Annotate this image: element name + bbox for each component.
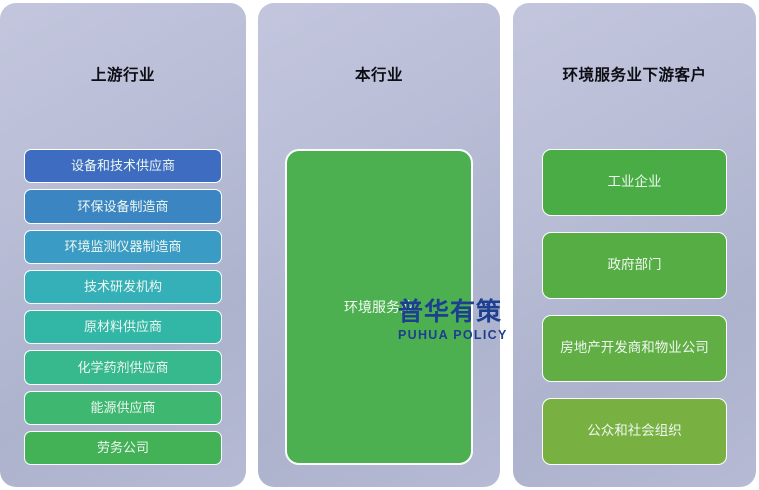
downstream-item-0-label: 工业企业 [608,174,662,190]
upstream-item-2-label: 环境监测仪器制造商 [64,239,181,255]
upstream-item-0-label: 设备和技术供应商 [71,158,175,174]
panel-upstream-title: 上游行业 [0,63,246,85]
upstream-item-3-label: 技术研发机构 [84,279,162,295]
panel-upstream: 上游行业 设备和技术供应商 环保设备制造商 环境监测仪器制造商 技术研发机构 原… [0,3,246,487]
industry-block-label: 环境服务业 [344,297,414,317]
upstream-item-3[interactable]: 技术研发机构 [24,270,222,304]
upstream-item-7-label: 劳务公司 [97,440,149,456]
panel-downstream: 环境服务业下游客户 工业企业 政府部门 房地产开发商和物业公司 公众和社会组织 [513,3,756,487]
upstream-item-5-label: 化学药剂供应商 [77,360,168,376]
downstream-item-3[interactable]: 公众和社会组织 [542,398,727,465]
upstream-item-7[interactable]: 劳务公司 [24,431,222,465]
downstream-item-1[interactable]: 政府部门 [542,232,727,299]
upstream-item-2[interactable]: 环境监测仪器制造商 [24,230,222,264]
upstream-item-1-label: 环保设备制造商 [77,199,168,215]
upstream-item-5[interactable]: 化学药剂供应商 [24,350,222,384]
panel-industry: 本行业 环境服务业 [258,3,500,487]
upstream-item-list: 设备和技术供应商 环保设备制造商 环境监测仪器制造商 技术研发机构 原材料供应商… [24,149,222,465]
downstream-item-list: 工业企业 政府部门 房地产开发商和物业公司 公众和社会组织 [542,149,727,465]
upstream-item-6[interactable]: 能源供应商 [24,391,222,425]
downstream-item-2[interactable]: 房地产开发商和物业公司 [542,315,727,382]
panel-downstream-title: 环境服务业下游客户 [513,63,756,85]
upstream-item-4[interactable]: 原材料供应商 [24,310,222,344]
downstream-item-3-label: 公众和社会组织 [587,423,682,439]
upstream-item-1[interactable]: 环保设备制造商 [24,189,222,223]
upstream-item-6-label: 能源供应商 [90,400,155,416]
industry-block[interactable]: 环境服务业 [285,149,473,465]
upstream-item-0[interactable]: 设备和技术供应商 [24,149,222,183]
downstream-item-1-label: 政府部门 [608,257,662,273]
downstream-item-2-label: 房地产开发商和物业公司 [560,340,709,356]
upstream-item-4-label: 原材料供应商 [84,319,162,335]
industry-chain-diagram: 上游行业 设备和技术供应商 环保设备制造商 环境监测仪器制造商 技术研发机构 原… [0,0,759,490]
panel-industry-title: 本行业 [258,63,500,85]
downstream-item-0[interactable]: 工业企业 [542,149,727,216]
